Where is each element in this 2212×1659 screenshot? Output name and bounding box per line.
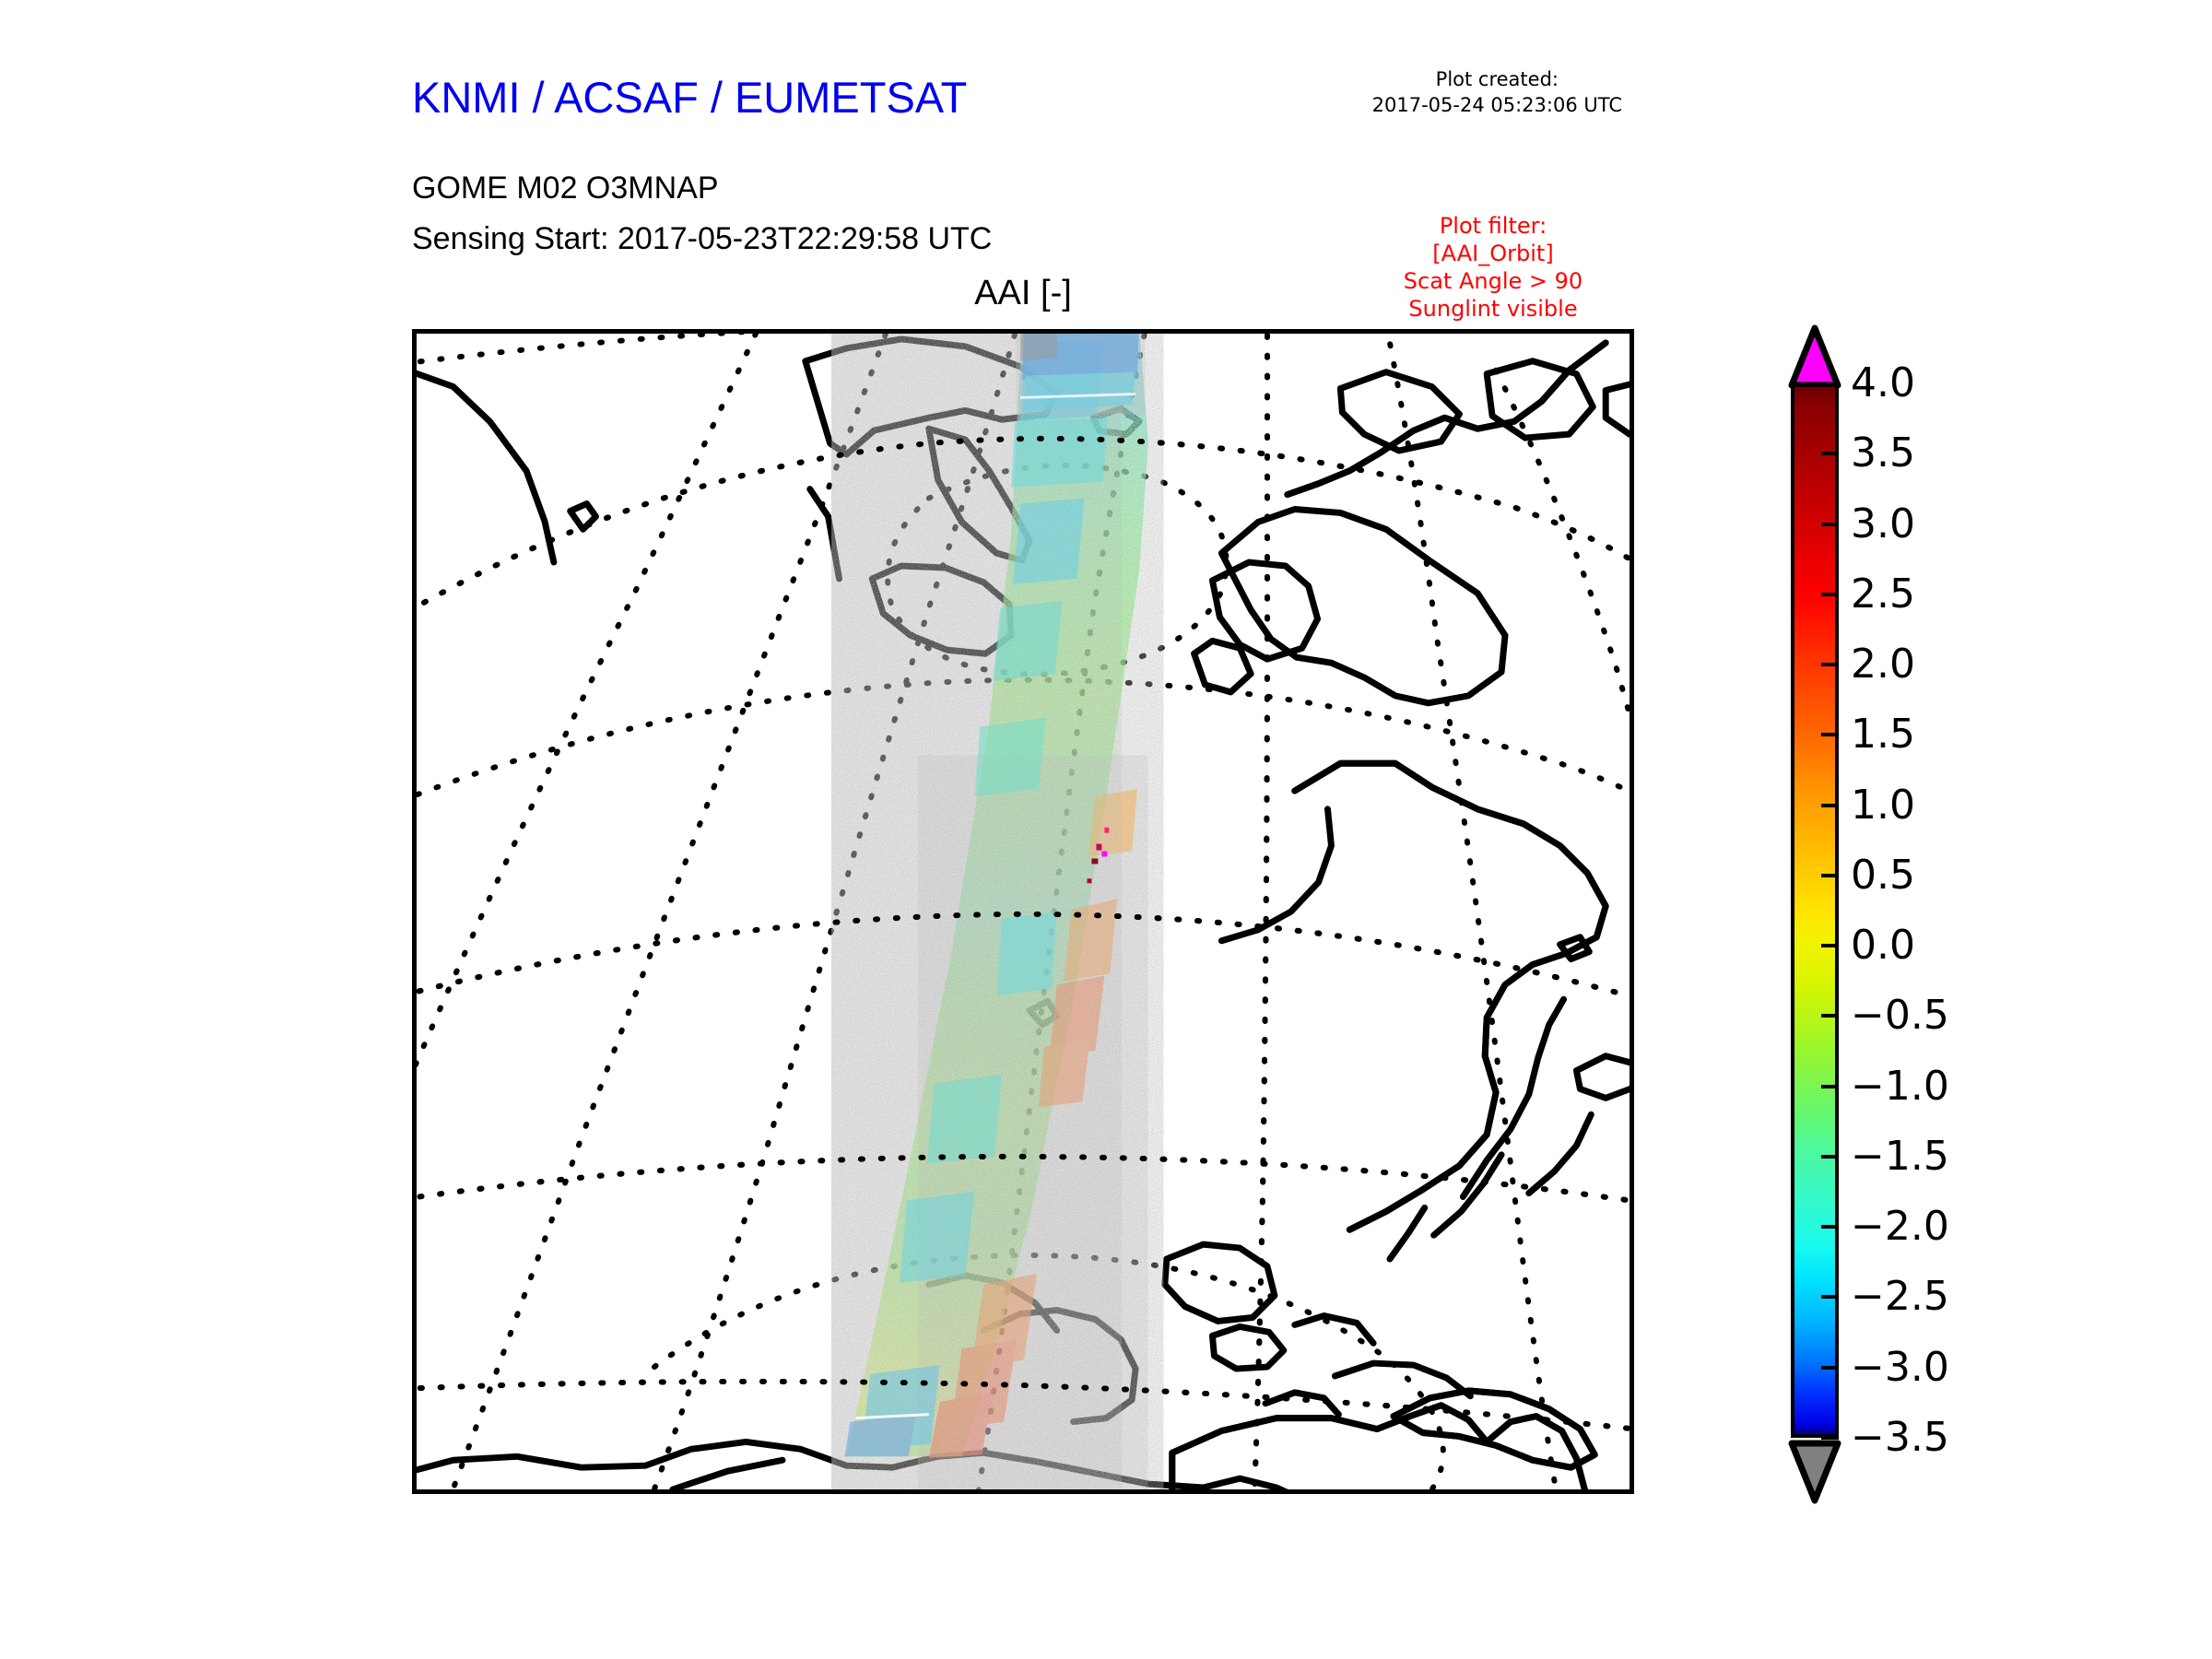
colorbar-over-arrow [1788, 324, 1841, 389]
sensing-start: Sensing Start: 2017-05-23T22:29:58 UTC [412, 221, 992, 257]
colorbar-tick [1821, 663, 1839, 666]
colorbar-tick-label: 3.0 [1851, 504, 1915, 545]
coastlines-southern [417, 1406, 1630, 1489]
plot-created-label: Plot created: [1372, 66, 1622, 92]
colorbar-tick [1821, 1225, 1839, 1229]
colorbar-tick-label: −2.0 [1851, 1206, 1949, 1247]
plot-filter-label: Plot filter: [1373, 212, 1613, 240]
colorbar-tick [1821, 804, 1839, 807]
chart-title: AAI [-] [412, 274, 1634, 313]
product-name: GOME M02 O3MNAP [412, 171, 719, 206]
colorbar-tick-label: −2.5 [1851, 1277, 1949, 1317]
colorbar-tick-label: 1.0 [1851, 785, 1915, 826]
colorbar-tick-label: −0.5 [1851, 995, 1949, 1036]
colorbar-tick-label: 4.0 [1851, 363, 1915, 404]
plot-created-timestamp: 2017-05-24 05:23:06 UTC [1372, 92, 1622, 118]
colorbar-tick-label: 0.0 [1851, 925, 1915, 966]
colorbar-tick-label: 2.0 [1851, 644, 1915, 685]
colorbar-tick-label: 2.5 [1851, 574, 1915, 615]
colorbar-gradient [1791, 383, 1839, 1438]
colorbar-tick [1821, 523, 1839, 526]
colorbar-tick [1821, 1085, 1839, 1088]
plot-created-block: Plot created: 2017-05-24 05:23:06 UTC [1372, 66, 1622, 119]
colorbar-tick-label: 0.5 [1851, 855, 1915, 896]
orthographic-map [417, 334, 1630, 1489]
colorbar-tick-label: −3.0 [1851, 1347, 1949, 1388]
colorbar-tick [1821, 1366, 1839, 1370]
colorbar-tick [1821, 874, 1839, 877]
colorbar-tick-label: 3.5 [1851, 433, 1915, 474]
colorbar-under-arrow [1788, 1438, 1841, 1504]
colorbar-tick-label: 1.5 [1851, 714, 1915, 755]
colorbar: 4.03.53.02.52.01.51.00.50.0−0.5−1.0−1.5−… [1788, 324, 2175, 1504]
colorbar-tick [1821, 733, 1839, 736]
colorbar-tick [1821, 1436, 1839, 1440]
colorbar-tick [1821, 944, 1839, 947]
colorbar-tick-label: −3.5 [1851, 1418, 1949, 1458]
satellite-swath [810, 334, 1148, 1489]
colorbar-tick [1821, 452, 1839, 455]
colorbar-tick [1821, 1155, 1839, 1159]
colorbar-tick [1821, 593, 1839, 596]
map-plot-area [412, 329, 1634, 1494]
colorbar-tick-label: −1.5 [1851, 1136, 1949, 1177]
colorbar-tick [1821, 1014, 1839, 1018]
colorbar-tick-label: −1.0 [1851, 1066, 1949, 1107]
colorbar-tick [1821, 1295, 1839, 1299]
page-title: KNMI / ACSAF / EUMETSAT [412, 72, 967, 123]
plot-filter-name: [AAI_Orbit] [1373, 240, 1613, 267]
